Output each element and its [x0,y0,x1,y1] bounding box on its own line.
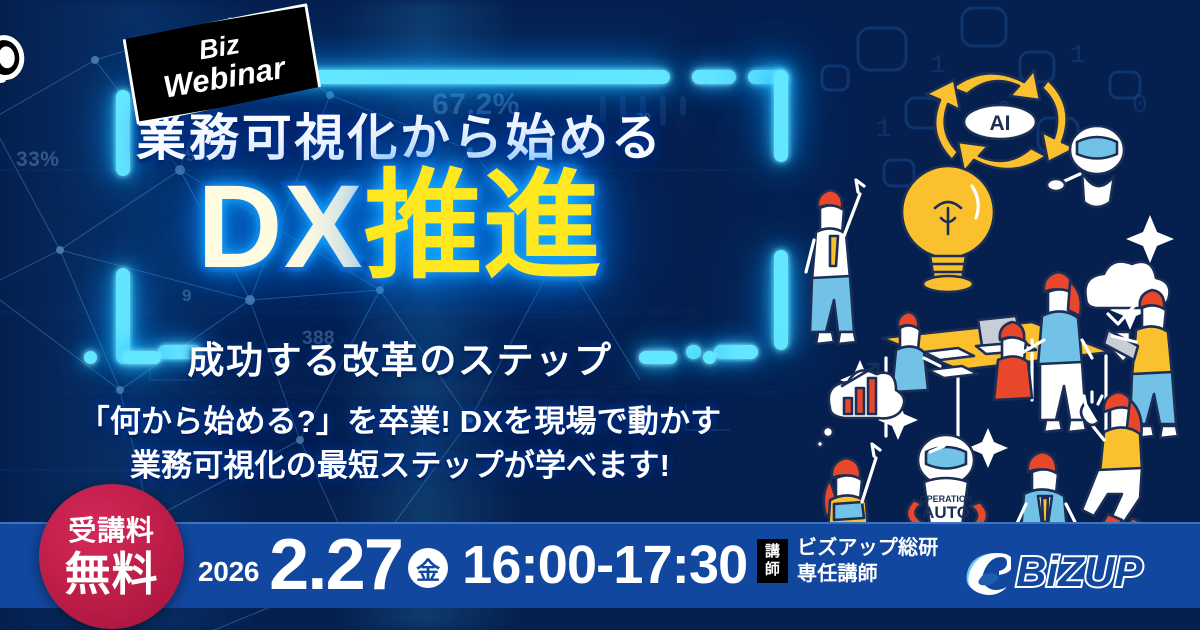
dash-decoration-right [639,351,677,364]
free-price-badge: 受講料 無料 [39,484,184,629]
bizup-swoosh-icon [963,549,1011,595]
bizup-logo: BiZUP [963,549,1142,595]
title-main-latin: DX [197,161,364,293]
title-sub2: 成功する改革のステップ [187,330,612,384]
bizup-logo-text: BiZUP [1016,551,1142,593]
lecturer-tag-char1: 講 [757,543,788,561]
free-badge-line1: 受講料 [68,517,155,545]
lecturer-tag-char2: 師 [757,561,788,579]
lead-line-2: 業務可視化の最短ステップが学べます! [0,444,800,488]
lightbulb-icon [902,166,994,292]
video-camera-icon [0,4,30,104]
lecturer-tag: 講 師 [757,539,788,582]
free-badge-line2: 無料 [65,551,159,597]
dash-decoration-left [123,351,161,364]
headline-group: 業務可視化から始める DX推進 成功する改革のステップ 「何から始める?」を卒業… [0,0,800,520]
title-subheading: 業務可視化から始める [0,98,800,170]
title-sub2-row: 成功する改革のステップ [0,330,800,384]
event-datetime: 2026 2.27 金 16:00-17:30 [198,522,747,608]
robot-label-main: AUTO [922,503,970,522]
lecturer-info: 講 師 ビズアップ総研 専任講師 [757,535,938,587]
title-main-jp: 推進 [364,161,603,293]
dash-decoration-right-small [703,351,716,364]
dx-illustration: .st{stroke:#fff;stroke-width:3.2;stroke-… [800,40,1200,540]
event-day-of-week: 金 [408,548,448,588]
lecturer-name-line2: 専任講師 [797,561,938,587]
event-year: 2026 [198,556,259,588]
badge-line2: Webinar [161,52,287,103]
ai-label: AI [990,112,1011,135]
ai-cycle-arrows: AI [926,70,1076,172]
person-waving-woman [1081,392,1146,534]
lecturer-name: ビズアップ総研 専任講師 [797,535,938,587]
event-day: 2.27 [269,524,402,606]
event-time: 16:00-17:30 [462,534,747,596]
title-main: DX推進 [0,168,800,286]
lead-line-1: 「何から始める?」を卒業! DXを現場で動かす [0,400,800,444]
bar-chart-thought-bubble [817,364,904,447]
lead-text: 「何から始める?」を卒業! DXを現場で動かす 業務可視化の最短ステップが学べま… [0,400,800,488]
lecturer-name-line1: ビズアップ総研 [797,535,938,561]
dash-decoration-left-small [84,351,97,364]
person-pointing-up-left [806,180,864,344]
webinar-banner: 11 01 0 67.2% 33% 35% 3 [0,0,1200,630]
